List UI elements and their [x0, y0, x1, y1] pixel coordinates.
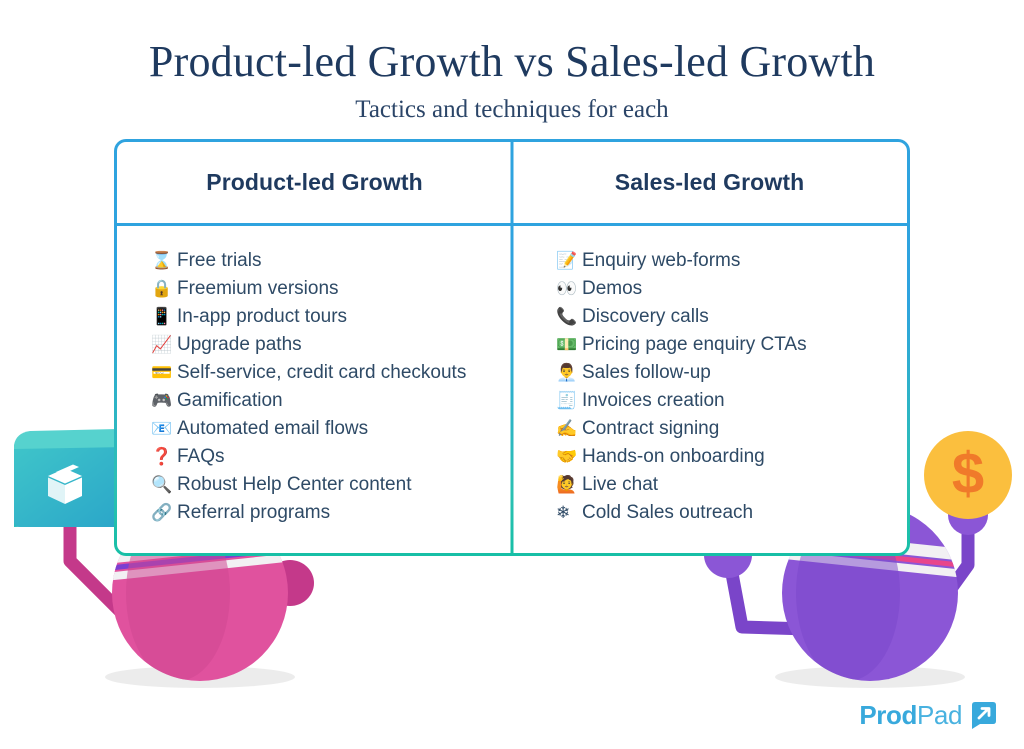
- list-item: 🎮Gamification: [151, 387, 512, 415]
- chart-increasing-icon: 📈: [151, 331, 177, 359]
- list-item-label: Pricing page enquiry CTAs: [582, 331, 807, 359]
- list-item-label: Invoices creation: [582, 387, 725, 415]
- list-item-label: Sales follow-up: [582, 359, 711, 387]
- page-subtitle: Tactics and techniques for each: [0, 96, 1024, 124]
- logo-text-bold: Prod: [859, 700, 917, 730]
- list-item: 🔒Freemium versions: [151, 275, 512, 303]
- title-block: Product-led Growth vs Sales-led Growth T…: [0, 38, 1024, 124]
- list-item-label: Demos: [582, 275, 642, 303]
- money-coin-icon: $: [924, 431, 1012, 519]
- credit-card-icon: 💳: [151, 359, 177, 387]
- list-item: 💳Self-service, credit card checkouts: [151, 359, 512, 387]
- list-item: ❄Cold Sales outreach: [556, 499, 907, 527]
- list-item-label: In-app product tours: [177, 303, 347, 331]
- list-item: 📞Discovery calls: [556, 303, 907, 331]
- item-list-sales-led-growth: 📝Enquiry web-forms 👀Demos 📞Discovery cal…: [512, 223, 907, 527]
- list-item-label: FAQs: [177, 443, 225, 471]
- arrow-up-right-badge-icon: [968, 699, 1000, 731]
- list-item: 📈Upgrade paths: [151, 331, 512, 359]
- comparison-table: Product-led Growth ⌛Free trials 🔒Freemiu…: [114, 139, 910, 556]
- list-item-label: Hands-on onboarding: [582, 443, 765, 471]
- list-item-label: Robust Help Center content: [177, 471, 411, 499]
- list-item: ❓FAQs: [151, 443, 512, 471]
- list-item: 📧Automated email flows: [151, 415, 512, 443]
- svg-text:$: $: [952, 441, 984, 506]
- snowflake-icon: ❄: [556, 499, 582, 527]
- list-item: 🔍Robust Help Center content: [151, 471, 512, 499]
- column-product-led-growth: Product-led Growth ⌛Free trials 🔒Freemiu…: [117, 142, 512, 553]
- infographic-canvas: Product-led Growth vs Sales-led Growth T…: [0, 0, 1024, 749]
- money-banknote-icon: 💵: [556, 331, 582, 359]
- hourglass-icon: ⌛: [151, 247, 177, 275]
- list-item: 👨‍💼Sales follow-up: [556, 359, 907, 387]
- list-item: 📱In-app product tours: [151, 303, 512, 331]
- receipt-icon: 🧾: [556, 387, 582, 415]
- list-item-label: Freemium versions: [177, 275, 339, 303]
- eyes-icon: 👀: [556, 275, 582, 303]
- list-item: 🙋Live chat: [556, 471, 907, 499]
- list-item-label: Free trials: [177, 247, 261, 275]
- writing-hand-icon: ✍: [556, 415, 582, 443]
- question-mark-icon: ❓: [151, 443, 177, 471]
- email-icon: 📧: [151, 415, 177, 443]
- product-box-icon: [14, 429, 128, 527]
- link-icon: 🔗: [151, 499, 177, 527]
- handshake-icon: 🤝: [556, 443, 582, 471]
- page-title: Product-led Growth vs Sales-led Growth: [0, 38, 1024, 86]
- mobile-phone-icon: 📱: [151, 303, 177, 331]
- list-item: 🔗Referral programs: [151, 499, 512, 527]
- list-item-label: Enquiry web-forms: [582, 247, 740, 275]
- person-raising-hand-icon: 🙋: [556, 471, 582, 499]
- list-item-label: Cold Sales outreach: [582, 499, 753, 527]
- memo-icon: 📝: [556, 247, 582, 275]
- list-item-label: Self-service, credit card checkouts: [177, 359, 466, 387]
- list-item: 🧾Invoices creation: [556, 387, 907, 415]
- list-item-label: Contract signing: [582, 415, 719, 443]
- list-item: 💵Pricing page enquiry CTAs: [556, 331, 907, 359]
- column-header-sales-led-growth: Sales-led Growth: [512, 142, 907, 223]
- lock-icon: 🔒: [151, 275, 177, 303]
- office-worker-icon: 👨‍💼: [556, 359, 582, 387]
- prodpad-logo: ProdPad: [859, 699, 1000, 731]
- list-item: 🤝Hands-on onboarding: [556, 443, 907, 471]
- list-item-label: Upgrade paths: [177, 331, 302, 359]
- list-item-label: Discovery calls: [582, 303, 709, 331]
- list-item-label: Gamification: [177, 387, 283, 415]
- logo-text-light: Pad: [917, 700, 962, 730]
- list-item-label: Referral programs: [177, 499, 330, 527]
- video-game-controller-icon: 🎮: [151, 387, 177, 415]
- column-header-product-led-growth: Product-led Growth: [117, 142, 512, 223]
- column-divider: [511, 142, 514, 553]
- list-item-label: Live chat: [582, 471, 658, 499]
- magnifying-glass-icon: 🔍: [151, 471, 177, 499]
- telephone-receiver-icon: 📞: [556, 303, 582, 331]
- logo-wordmark: ProdPad: [859, 700, 962, 731]
- list-item: 👀Demos: [556, 275, 907, 303]
- list-item-label: Automated email flows: [177, 415, 368, 443]
- list-item: 📝Enquiry web-forms: [556, 247, 907, 275]
- list-item: ✍Contract signing: [556, 415, 907, 443]
- column-sales-led-growth: Sales-led Growth 📝Enquiry web-forms 👀Dem…: [512, 142, 907, 553]
- list-item: ⌛Free trials: [151, 247, 512, 275]
- item-list-product-led-growth: ⌛Free trials 🔒Freemium versions 📱In-app …: [117, 223, 512, 527]
